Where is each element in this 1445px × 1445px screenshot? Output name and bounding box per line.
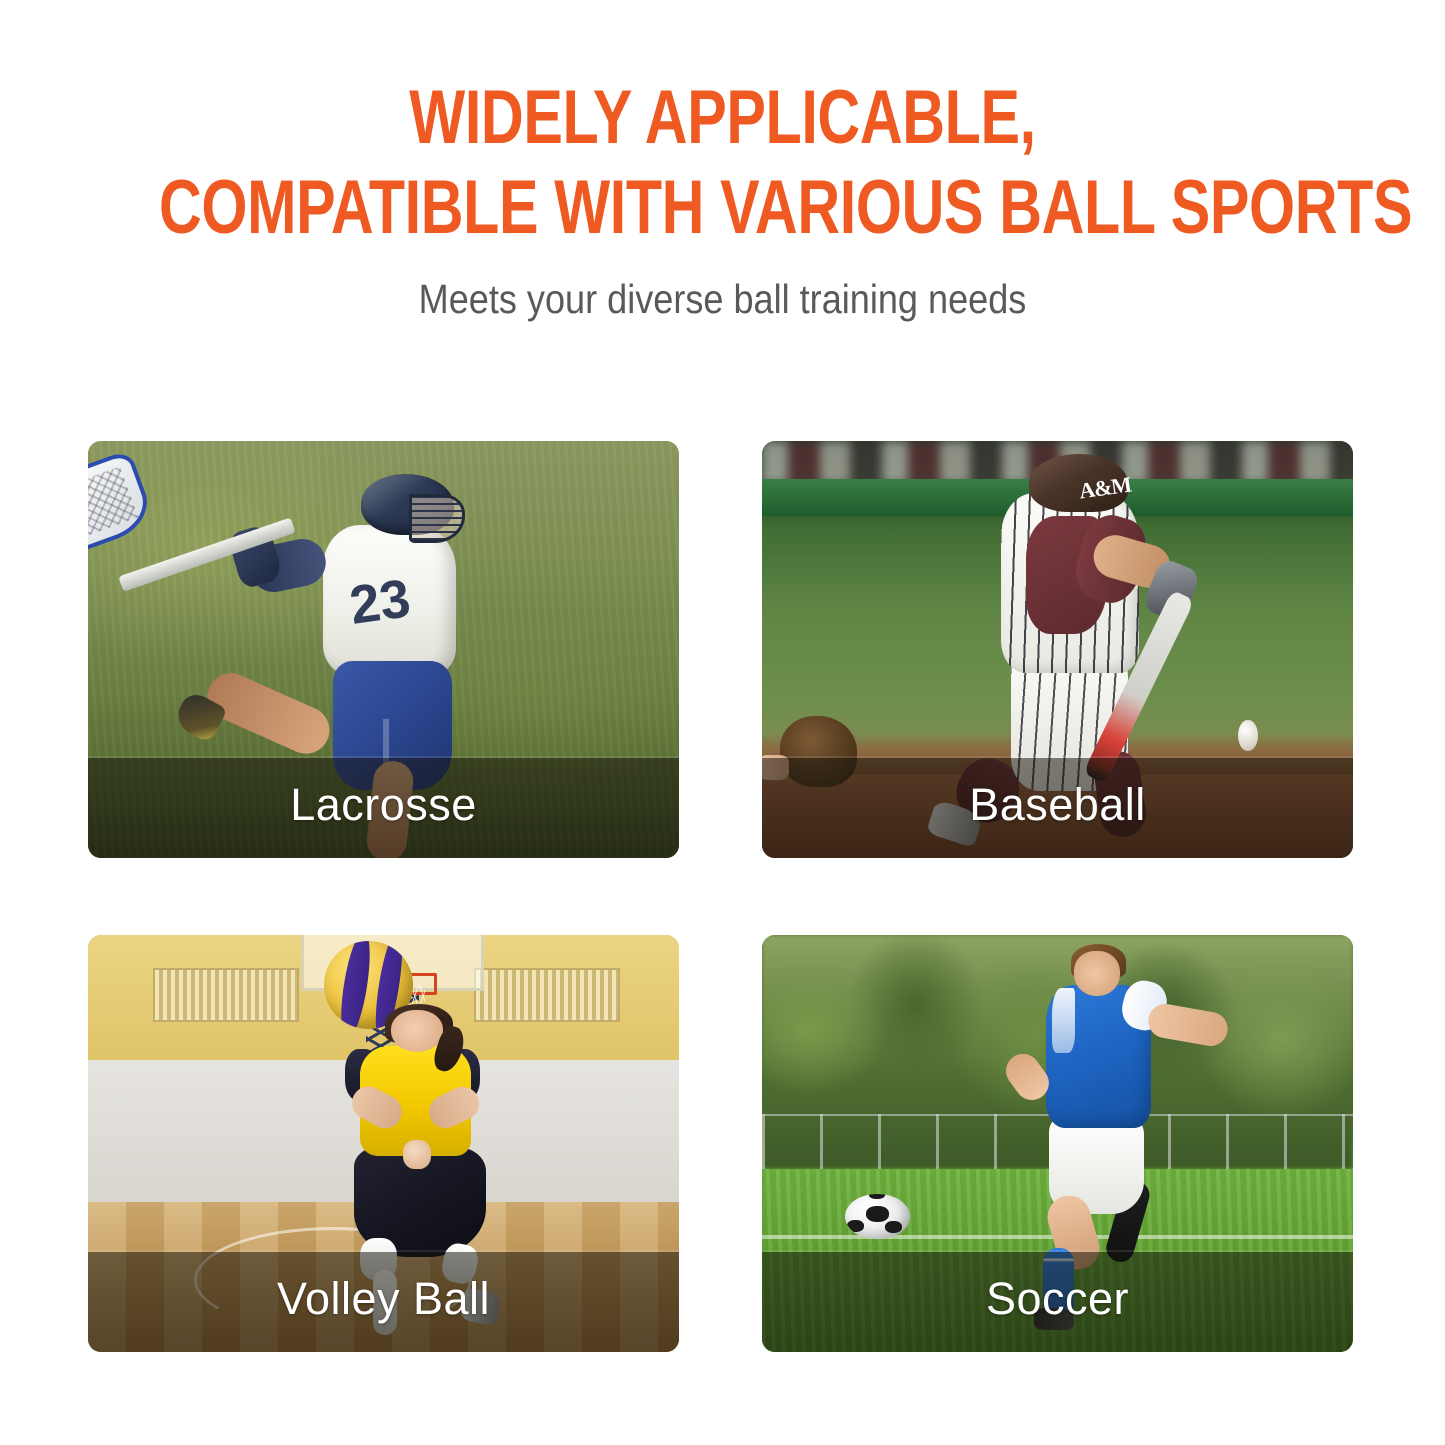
caption-label-lacrosse: Lacrosse (290, 782, 477, 831)
ball-panel (885, 1221, 902, 1233)
caption-band-volleyball: Volley Ball (88, 1250, 679, 1352)
caption-band-soccer: Soccer (762, 1250, 1353, 1352)
caption-band-lacrosse: Lacrosse (88, 756, 679, 858)
sport-card-volleyball[interactable]: Volley Ball (88, 935, 679, 1352)
header-block: WIDELY APPLICABLE, COMPATIBLE WITH VARIO… (0, 0, 1445, 322)
player-clasped-hands (403, 1140, 431, 1169)
sports-gallery-grid: 23 Lacrosse (88, 441, 1353, 1352)
ball-panel (869, 1194, 885, 1200)
headline-line-1: WIDELY APPLICABLE, (159, 74, 1286, 162)
caption-label-volleyball: Volley Ball (277, 1276, 490, 1325)
wall-vent-left (153, 968, 299, 1022)
helmet-facemask (409, 494, 465, 543)
caption-band-baseball: Baseball (762, 756, 1353, 858)
sport-card-soccer[interactable]: Soccer (762, 935, 1353, 1352)
subtitle: Meets your diverse ball training needs (87, 276, 1359, 322)
baseball-ball (1238, 720, 1258, 751)
caption-label-baseball: Baseball (969, 782, 1146, 831)
soccer-ball (845, 1194, 910, 1240)
player-head (1074, 951, 1120, 996)
sport-card-lacrosse[interactable]: 23 Lacrosse (88, 441, 679, 858)
ball-panel (866, 1206, 889, 1222)
jersey-number: 23 (346, 567, 414, 637)
headline-line-2: COMPATIBLE WITH VARIOUS BALL SPORTS (159, 164, 1286, 252)
sport-card-baseball[interactable]: A&M Baseball (762, 441, 1353, 858)
caption-label-soccer: Soccer (986, 1276, 1129, 1325)
ball-panel (847, 1220, 864, 1232)
